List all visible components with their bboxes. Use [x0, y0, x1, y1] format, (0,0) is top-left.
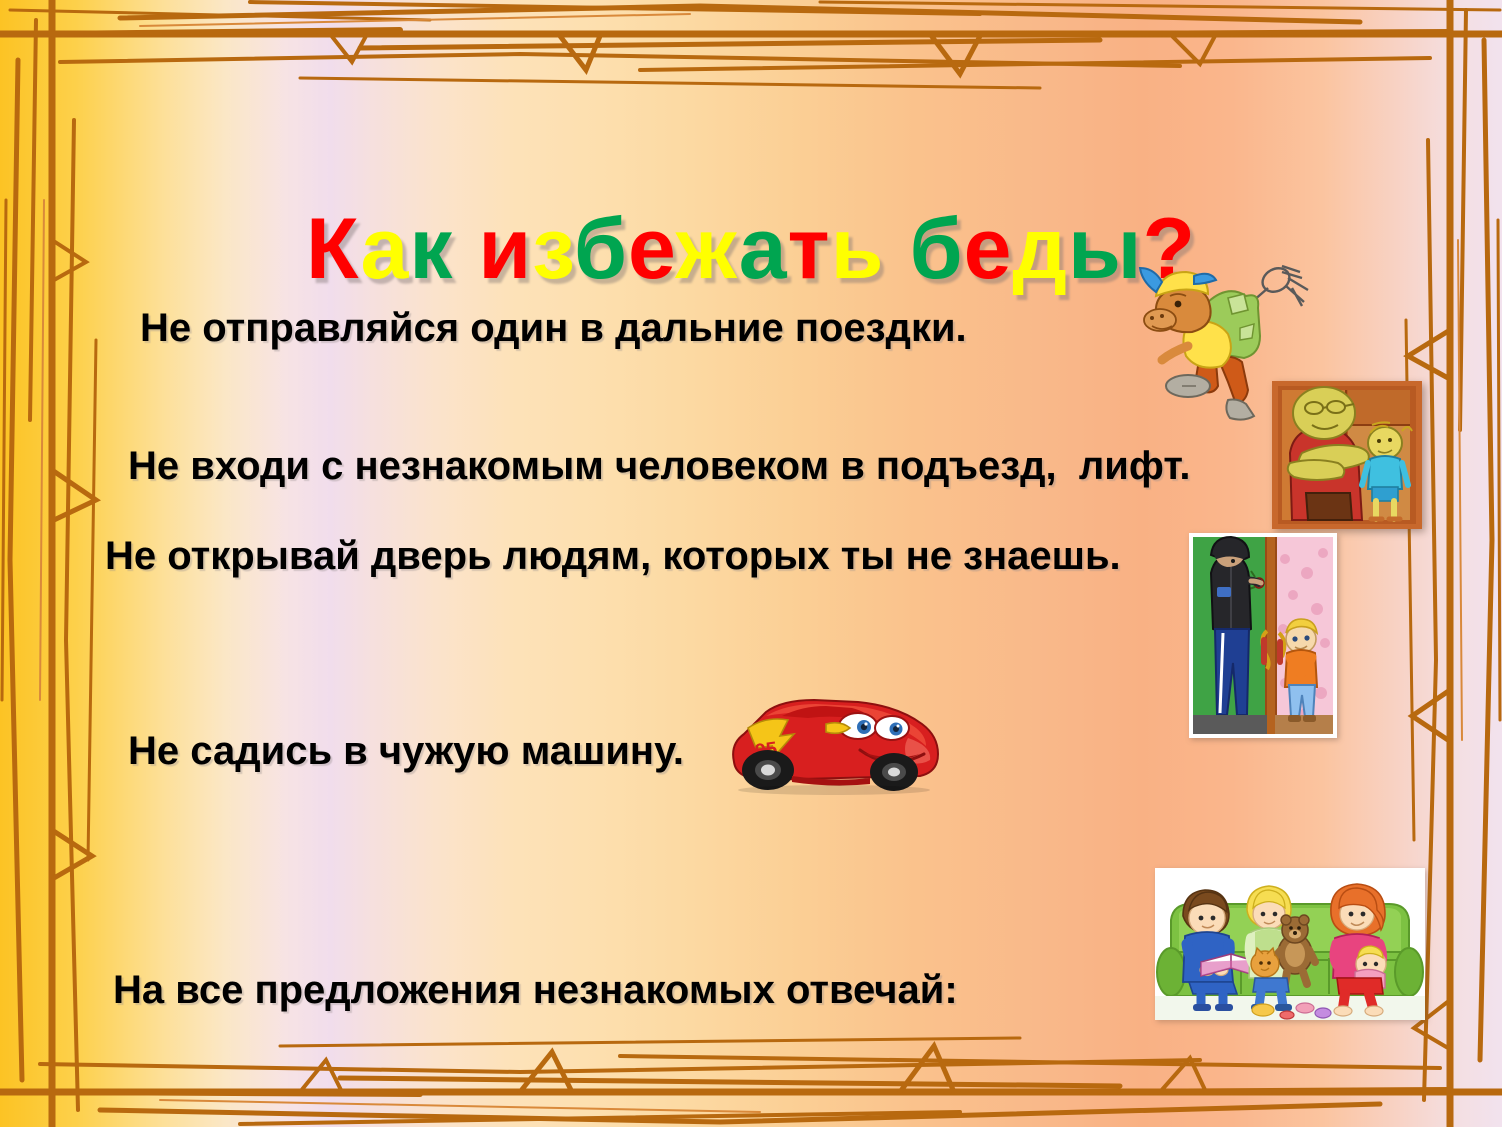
title-letter-8: ж	[676, 201, 739, 297]
title-letter-6: б	[574, 201, 628, 297]
title-letter-4: и	[478, 201, 532, 297]
title-letter-0: К	[306, 201, 361, 297]
rule-line-4: Не садись в чужую машину.	[128, 729, 684, 774]
rule-paragraph-line-1: На все предложения незнакомых отвечай:	[113, 964, 1013, 1016]
stranger-at-door-clipart	[1189, 533, 1337, 738]
rule-paragraph-line-2: «Нет!» - немедленно уходи от них.	[113, 1120, 1013, 1127]
title-letter-11: ь	[831, 201, 885, 297]
rule-line-3: Не открывай дверь людям, которых ты не з…	[105, 534, 1121, 579]
title-letter-9: а	[739, 201, 788, 297]
rule-line-2: Не входи с незнакомым человеком в подъез…	[128, 444, 1191, 489]
title-letter-10: т	[788, 201, 831, 297]
title-letter-14: е	[964, 201, 1013, 297]
title-letter-2: к	[409, 201, 453, 297]
title-letter-12	[885, 201, 910, 297]
rule-line-1: Не отправляйся один в дальние поездки.	[140, 306, 967, 351]
title-letter-15: д	[1012, 201, 1068, 297]
title-letter-13: б	[909, 201, 963, 297]
rule-paragraph: На все предложения незнакомых отвечай: «…	[113, 860, 1013, 1127]
family-on-sofa-clipart	[1155, 868, 1425, 1020]
title-letter-7: е	[628, 201, 676, 297]
stranger-in-elevator-clipart	[1272, 381, 1422, 529]
title-letter-3	[453, 201, 478, 297]
title-letter-1: а	[361, 201, 410, 297]
red-race-car-clipart: 95	[722, 688, 946, 796]
slide: Как избежать беды? Не отправляйся один в…	[0, 0, 1502, 1127]
title-letter-5: з	[532, 201, 574, 297]
title-letter-16: ы	[1068, 201, 1142, 297]
